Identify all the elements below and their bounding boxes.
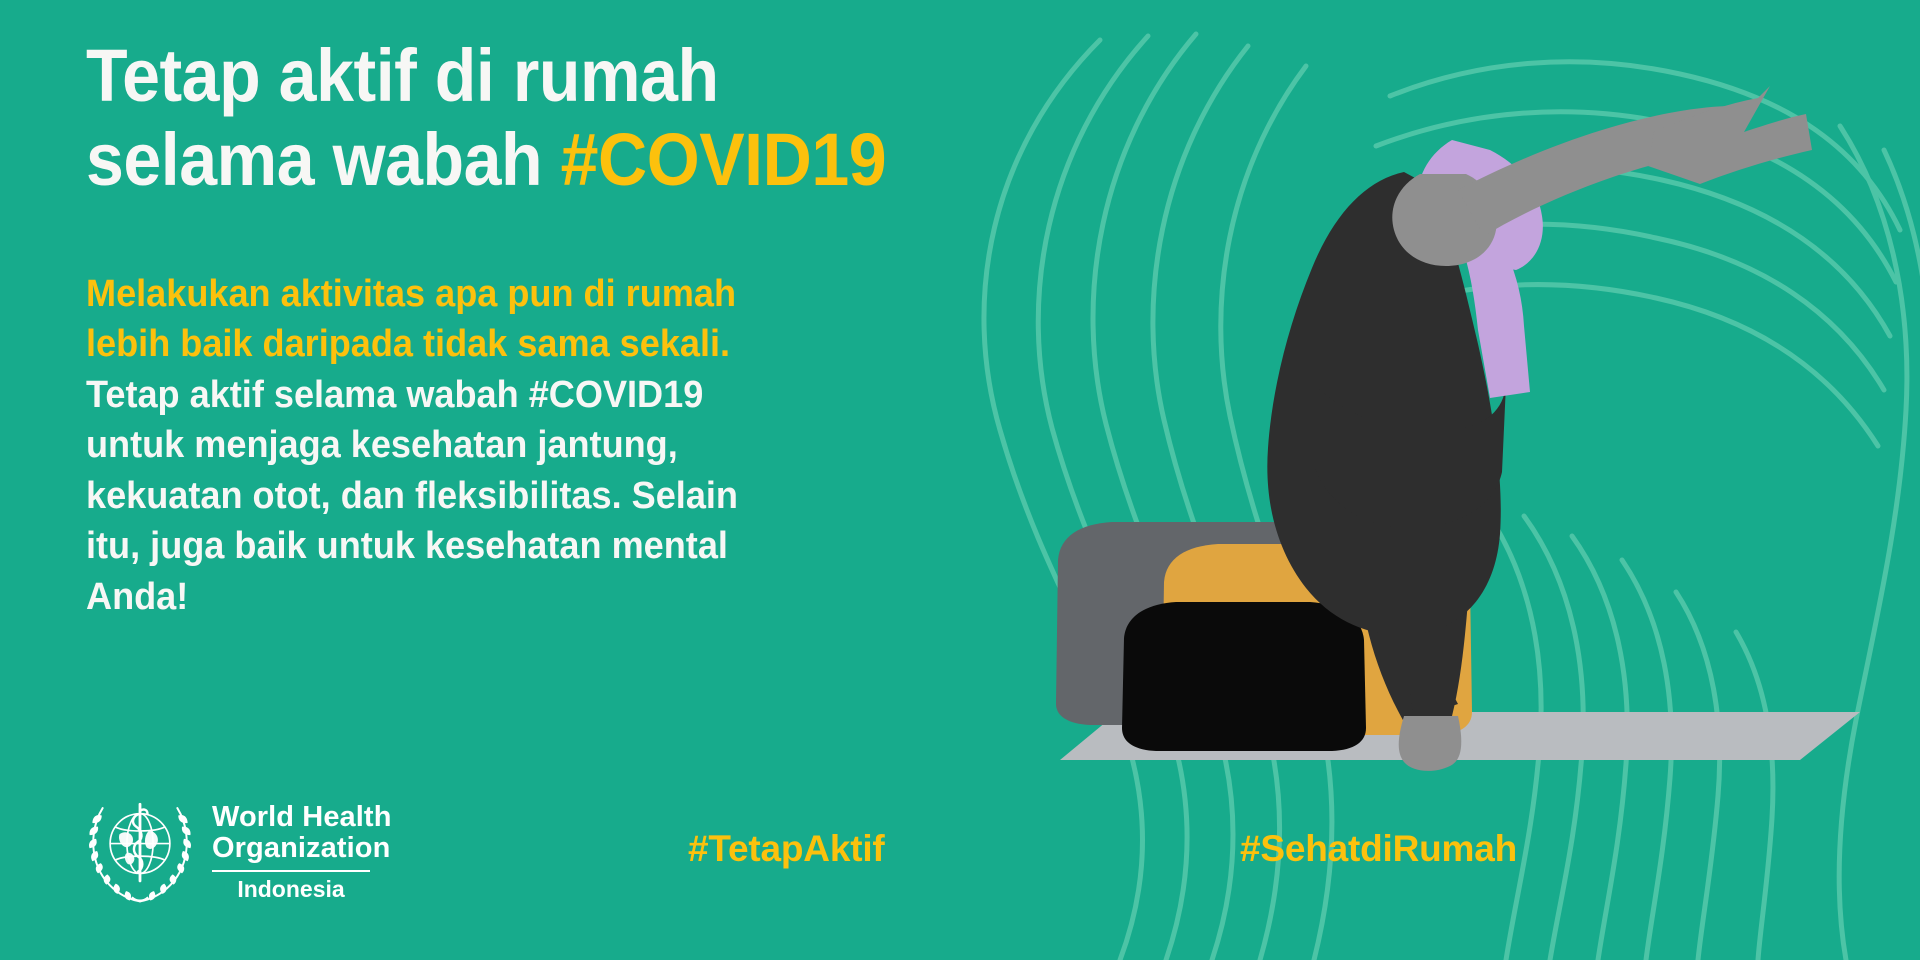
who-divider-rule [212,870,370,872]
body-paragraph: Melakukan aktivitas apa pun di rumah leb… [86,203,789,623]
cushion-black [1122,602,1366,751]
body-accent-text: Melakukan aktivitas apa pun di rumah leb… [86,273,736,366]
who-logo: World Health Organization Indonesia [84,795,392,907]
headline-line-2-text: selama wabah [86,118,561,201]
who-country-label: Indonesia [212,877,370,902]
who-emblem-icon [84,795,196,907]
headline-line-1: Tetap aktif di rumah [86,34,822,118]
who-wordmark: World Health Organization Indonesia [212,800,392,902]
poster-canvas: Tetap aktif di rumah selama wabah #COVID… [0,0,1920,960]
who-name-line-1: World Health [212,802,392,833]
text-column: Tetap aktif di rumah selama wabah #COVID… [86,0,886,622]
headline-line-2: selama wabah #COVID19 [86,118,822,202]
hashtag-sehat-di-rumah: #SehatdiRumah [1240,828,1517,870]
headline: Tetap aktif di rumah selama wabah #COVID… [86,0,822,203]
headline-hashtag-covid19: #COVID19 [561,118,887,201]
who-name-line-2: Organization [212,833,392,864]
figure-foot [1399,716,1462,771]
hashtag-tetap-aktif: #TetapAktif [688,828,885,870]
body-plain-text: Tetap aktif selama wabah #COVID19 untuk … [86,374,738,618]
